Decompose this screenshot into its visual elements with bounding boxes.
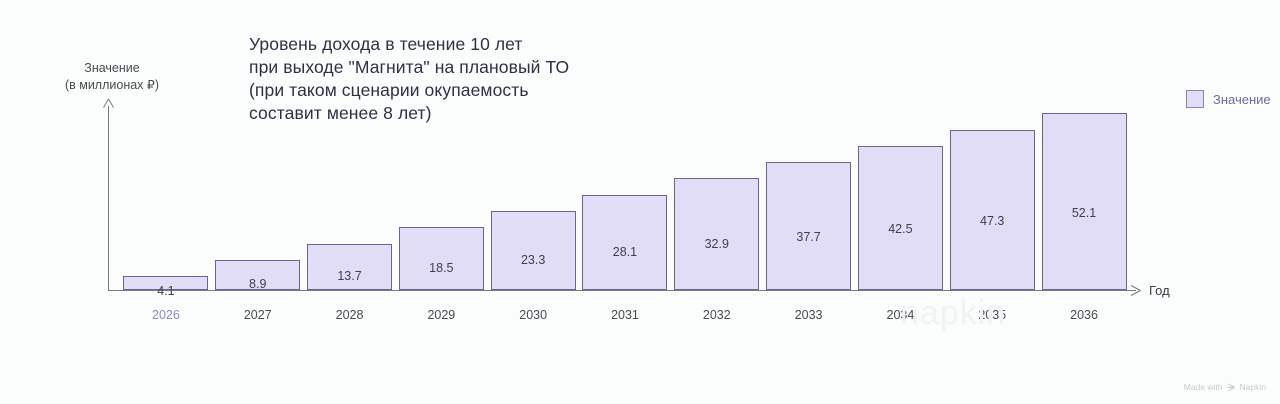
bar[interactable]: 47.3 bbox=[950, 130, 1035, 290]
watermark-brand-label: Napkin bbox=[1240, 382, 1266, 392]
bar-value-label: 47.3 bbox=[951, 214, 1034, 228]
bar-slot: 18.5 bbox=[395, 100, 487, 290]
x-axis-tick-label: 2029 bbox=[395, 308, 487, 322]
bar-slot: 32.9 bbox=[671, 100, 763, 290]
bar-value-label: 42.5 bbox=[859, 222, 942, 236]
legend-label: Значение bbox=[1213, 92, 1271, 107]
bar[interactable]: 18.5 bbox=[399, 227, 484, 290]
bar-value-label: 8.9 bbox=[216, 277, 299, 291]
bar[interactable]: 28.1 bbox=[582, 195, 667, 290]
x-axis-tick-label: 2033 bbox=[763, 308, 855, 322]
bar-value-label: 23.3 bbox=[492, 253, 575, 267]
bar[interactable]: 52.1 bbox=[1042, 113, 1127, 290]
bar-slot: 52.1 bbox=[1038, 100, 1130, 290]
chart-legend[interactable]: Значение bbox=[1186, 90, 1271, 108]
bar-value-label: 28.1 bbox=[583, 245, 666, 259]
x-axis-tick-label: 2026 bbox=[120, 308, 212, 322]
napkin-watermark: Made with Napkin bbox=[1184, 382, 1266, 392]
x-axis-tick-label: 2036 bbox=[1038, 308, 1130, 322]
bar-value-label: 37.7 bbox=[767, 230, 850, 244]
x-axis-tick-label: 2028 bbox=[304, 308, 396, 322]
plot-area: 4.18.913.718.523.328.132.937.742.547.352… bbox=[120, 100, 1130, 290]
napkin-logo-icon bbox=[1227, 383, 1236, 392]
bar-slot: 23.3 bbox=[487, 100, 579, 290]
bar[interactable]: 4.1 bbox=[123, 276, 208, 290]
bar-slot: 4.1 bbox=[120, 100, 212, 290]
bar-value-label: 13.7 bbox=[308, 269, 391, 283]
bar-slot: 42.5 bbox=[855, 100, 947, 290]
x-axis-tick-label: 2027 bbox=[212, 308, 304, 322]
bar-slot: 28.1 bbox=[579, 100, 671, 290]
bar-slot: 8.9 bbox=[212, 100, 304, 290]
bar[interactable]: 37.7 bbox=[766, 162, 851, 290]
x-axis-title: Год bbox=[1149, 283, 1170, 298]
y-axis-arrow-icon bbox=[103, 99, 114, 108]
bar[interactable]: 13.7 bbox=[307, 244, 392, 290]
bar-value-label: 32.9 bbox=[675, 237, 758, 251]
watermark-prefix-label: Made with bbox=[1184, 382, 1223, 392]
bar-slot: 13.7 bbox=[304, 100, 396, 290]
bar-slot: 47.3 bbox=[946, 100, 1038, 290]
bar-value-label: 4.1 bbox=[124, 284, 207, 298]
x-axis-tick-label: 2032 bbox=[671, 308, 763, 322]
y-axis-title: Значение (в миллионах ₽) bbox=[42, 60, 182, 94]
bar[interactable]: 42.5 bbox=[858, 146, 943, 290]
bar[interactable]: 32.9 bbox=[674, 178, 759, 290]
y-axis-line bbox=[108, 106, 109, 291]
bar-chart: Уровень дохода в течение 10 лет при выхо… bbox=[0, 0, 1280, 404]
bar[interactable]: 8.9 bbox=[215, 260, 300, 290]
bar-value-label: 18.5 bbox=[400, 261, 483, 275]
legend-swatch-icon bbox=[1186, 90, 1204, 108]
bar[interactable]: 23.3 bbox=[491, 211, 576, 290]
bar-value-label: 52.1 bbox=[1043, 206, 1126, 220]
bar-slot: 37.7 bbox=[763, 100, 855, 290]
x-axis-tick-label: 2031 bbox=[579, 308, 671, 322]
x-axis-tick-label: 2030 bbox=[487, 308, 579, 322]
center-watermark: napkin bbox=[900, 294, 1006, 333]
x-axis-arrow-icon bbox=[1131, 285, 1141, 296]
